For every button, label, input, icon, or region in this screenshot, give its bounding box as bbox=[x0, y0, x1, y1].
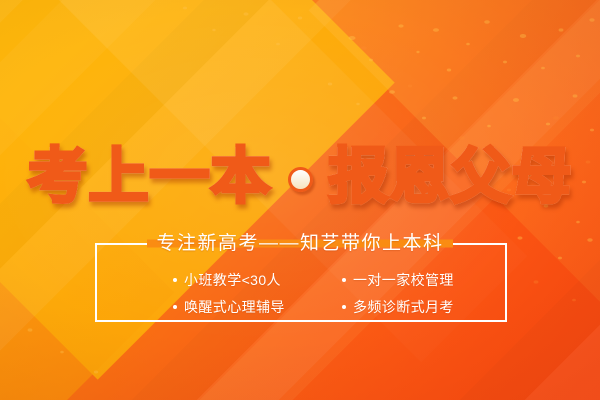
list-item: 小班教学<30人 bbox=[173, 266, 338, 293]
bullet-dot-icon bbox=[173, 278, 177, 282]
banner-title: 考上一本 报恩父母 bbox=[0, 138, 600, 216]
feature-label: 小班教学<30人 bbox=[184, 273, 281, 287]
feature-label: 多频诊断式月考 bbox=[353, 300, 454, 314]
bullet-dot-icon bbox=[173, 305, 177, 309]
bullet-dot-icon bbox=[342, 278, 346, 282]
feature-list: 小班教学<30人 一对一家校管理 唤醒式心理辅导 多频诊断式月考 bbox=[95, 266, 507, 320]
feature-label: 唤醒式心理辅导 bbox=[184, 300, 285, 314]
promo-banner: 考上一本 报恩父母 专注新高考——知艺带你上本科 小班教学<30人 一对一家校管… bbox=[0, 0, 600, 400]
list-item: 一对一家校管理 bbox=[342, 266, 507, 293]
title-part-1: 考上一本 bbox=[28, 147, 272, 207]
bullet-dot-icon bbox=[342, 305, 346, 309]
title-separator-dot bbox=[288, 167, 313, 192]
list-item: 多频诊断式月考 bbox=[342, 293, 507, 320]
title-part-2: 报恩父母 bbox=[329, 147, 573, 207]
list-item: 唤醒式心理辅导 bbox=[173, 293, 338, 320]
feature-label: 一对一家校管理 bbox=[353, 273, 454, 287]
